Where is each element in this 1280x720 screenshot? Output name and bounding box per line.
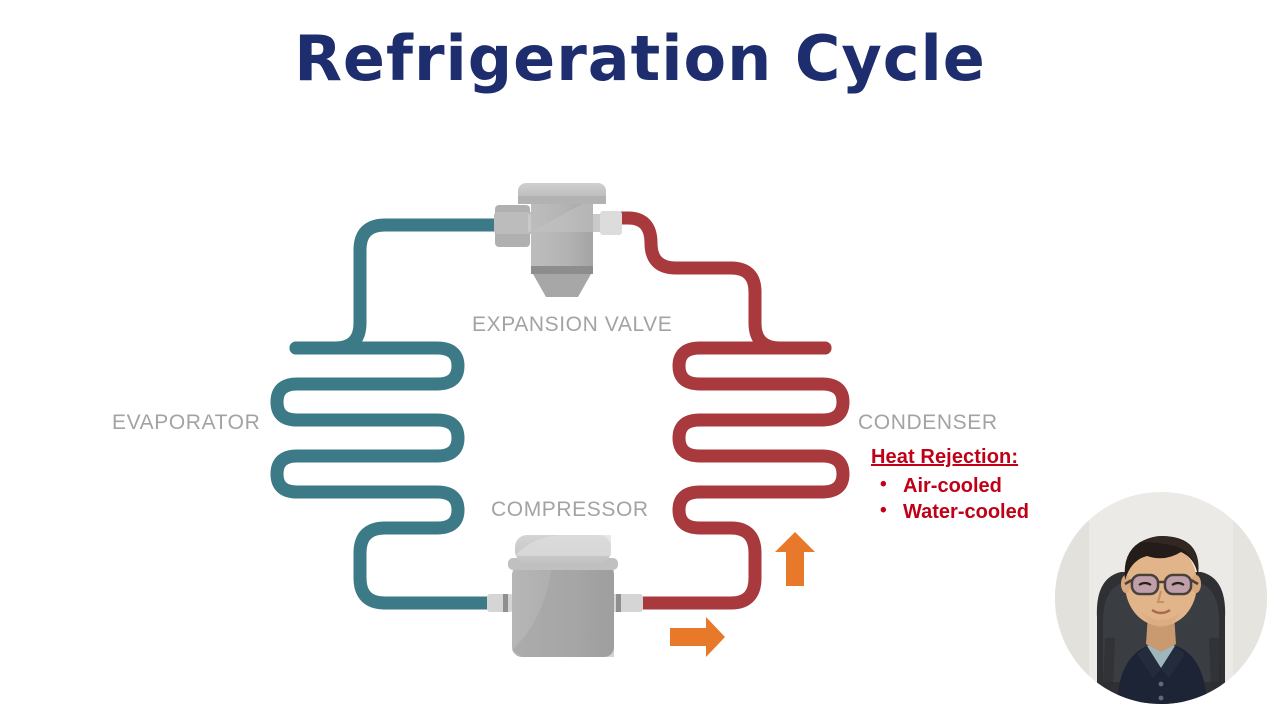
hot-refrigerant-line: [617, 218, 843, 603]
bullet-icon: •: [880, 498, 887, 523]
expansion-valve-component: [494, 183, 622, 297]
list-item: • Water-cooled: [871, 499, 1029, 526]
heat-rejection-arrow: [775, 532, 815, 586]
list-item: • Air-cooled: [871, 473, 1029, 500]
slide-canvas: Refrigeration Cycle: [0, 0, 1280, 720]
presenter-video-overlay[interactable]: [1055, 492, 1267, 704]
heat-rejection-list: • Air-cooled • Water-cooled: [871, 473, 1029, 526]
list-item-label: Air-cooled: [903, 475, 1002, 497]
label-compressor: COMPRESSOR: [491, 498, 649, 522]
heat-rejection-annotation: Heat Rejection: • Air-cooled • Water-coo…: [871, 444, 1029, 526]
compressor-component: [487, 535, 643, 657]
heat-rejection-heading: Heat Rejection:: [871, 444, 1029, 471]
list-item-label: Water-cooled: [903, 501, 1029, 523]
label-expansion-valve: EXPANSION VALVE: [472, 313, 672, 337]
discharge-flow-arrow: [670, 617, 725, 657]
label-condenser: CONDENSER: [858, 411, 998, 435]
bullet-icon: •: [880, 472, 887, 497]
presenter-portrait: [1055, 492, 1267, 704]
cold-refrigerant-line: [277, 225, 508, 603]
label-evaporator: EVAPORATOR: [112, 411, 260, 435]
